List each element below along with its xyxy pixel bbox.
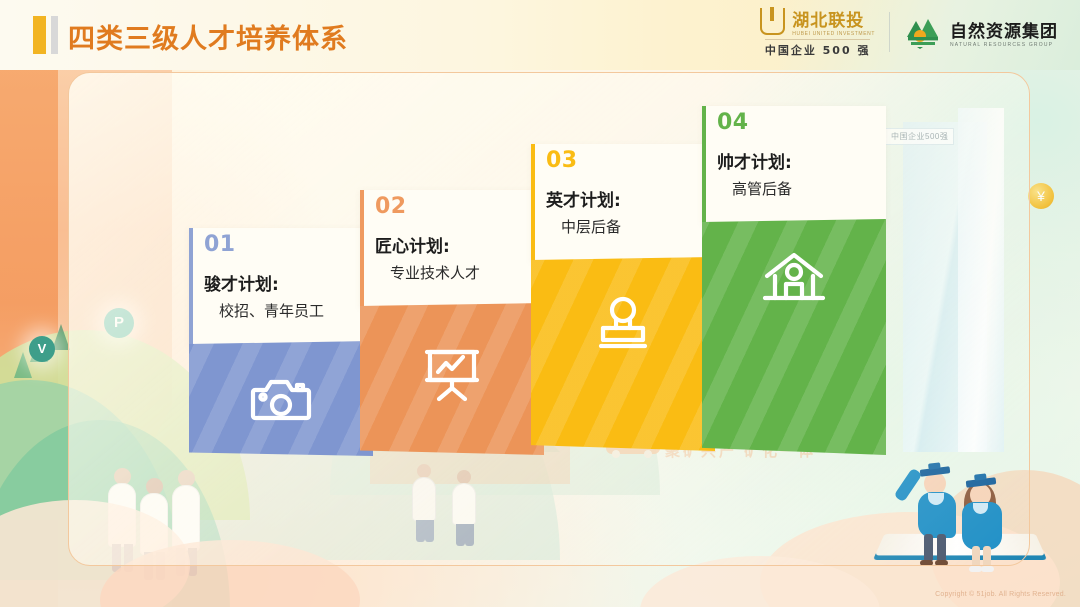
step-number-02: 02: [375, 194, 407, 219]
camera-icon: [250, 374, 312, 424]
logo-hubei-tagline: 中国企业 500 强: [765, 39, 871, 58]
step-subtitle-02: 专业技术人才: [390, 262, 480, 283]
step-subtitle-03: 中层后备: [561, 216, 621, 237]
stamp-icon: [592, 296, 654, 352]
step-block-02: [360, 303, 544, 455]
step-title-03: 英才计划:: [546, 186, 621, 211]
step-number-03: 03: [546, 148, 578, 173]
step-subtitle-04: 高管后备: [732, 178, 792, 199]
logo-group: 湖北联投 HUBEI UNITED INVESTMENT 中国企业 500 强: [760, 6, 1058, 58]
step-accent-bar-03: [531, 144, 535, 262]
step-accent-bar-01: [189, 228, 193, 346]
logo-hubei-en: HUBEI UNITED INVESTMENT: [792, 31, 875, 37]
mountain-sun-icon: [904, 15, 942, 49]
staircase-diagram: 01 骏才计划: 校招、青年员工 02 匠心计划: 专业技术人才: [0, 0, 1080, 607]
step-title-01: 骏才计划:: [204, 270, 279, 295]
step-block-01: [189, 341, 373, 456]
logo-nrg-cn: 自然资源集团: [950, 17, 1058, 42]
title-accent-bar-gray: [51, 16, 58, 54]
logo-divider: [889, 12, 890, 52]
step-title-04: 帅才计划:: [717, 148, 792, 173]
step-accent-bar-02: [360, 190, 364, 308]
logo-hubei-cn: 湖北联投: [792, 6, 875, 31]
u-monogram-icon: [760, 8, 785, 35]
logo-nrg-en: NATURAL RESOURCES GROUP: [950, 42, 1058, 48]
step-subtitle-01: 校招、青年员工: [219, 300, 324, 321]
page-header: 四类三级人才培养体系 湖北联投 HUBEI UNITED INVESTMENT …: [0, 0, 1080, 70]
step-number-04: 04: [717, 110, 749, 135]
house-icon: [761, 250, 827, 308]
page-title: 四类三级人才培养体系: [68, 17, 348, 56]
logo-natural-resources-group[interactable]: 自然资源集团 NATURAL RESOURCES GROUP: [904, 15, 1058, 49]
title-accent-bar-yellow: [33, 16, 46, 54]
step-title-02: 匠心计划:: [375, 232, 450, 257]
step-block-03: [531, 257, 715, 451]
step-block-04: [702, 219, 886, 455]
step-accent-bar-04: [702, 106, 706, 224]
step-number-01: 01: [204, 232, 236, 257]
presentation-chart-icon: [421, 344, 483, 402]
logo-hubei-united-investment[interactable]: 湖北联投 HUBEI UNITED INVESTMENT 中国企业 500 强: [760, 6, 875, 58]
